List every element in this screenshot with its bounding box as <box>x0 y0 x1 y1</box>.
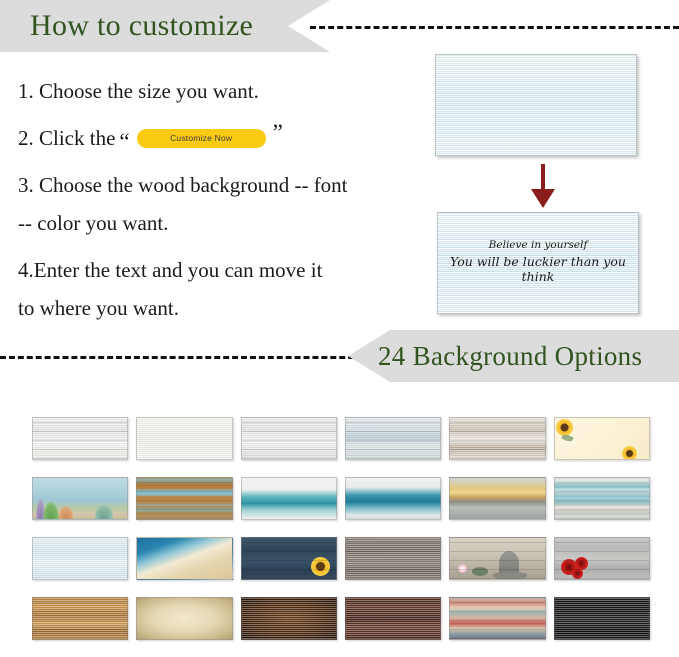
step-3-line-1: 3. Choose the wood background -- font <box>18 166 390 204</box>
step-1-text: 1. Choose the size you want. <box>18 79 259 103</box>
background-option-gray-brown-barnwood[interactable] <box>345 537 441 580</box>
step-4-line-2: to where you want. <box>18 289 390 327</box>
background-options-title: 24 Background Options <box>378 341 642 372</box>
background-options-row <box>32 477 650 520</box>
background-option-black-chalkboard-wood[interactable] <box>554 597 650 640</box>
sunflower-icon <box>311 557 330 576</box>
zen-flower-icon <box>458 564 467 573</box>
background-options-row <box>32 537 650 580</box>
page-title: How to customize <box>30 9 253 43</box>
background-option-zen-buddha-stones[interactable] <box>449 537 545 580</box>
dashed-connector-bottom <box>0 356 372 359</box>
infographic-page: How to customize 1. Choose the size you … <box>0 0 679 642</box>
sign-text-line-1: Believe in yourself <box>438 239 638 251</box>
background-option-navy-planks-sunflower[interactable] <box>241 537 337 580</box>
background-option-beach-shoreline-aerial[interactable] <box>136 537 232 580</box>
background-option-warm-brown-planks[interactable] <box>32 597 128 640</box>
blank-wood-sign-preview <box>435 54 637 156</box>
customized-wood-sign-preview: Believe in yourself You will be luckier … <box>437 212 639 314</box>
step-1: 1. Choose the size you want. <box>18 72 390 110</box>
coral-icon <box>43 502 59 519</box>
background-option-light-cream-wood[interactable] <box>136 417 232 460</box>
step-4: 4.Enter the text and you can move it to … <box>18 251 390 327</box>
background-option-teal-wave-splash[interactable] <box>241 477 337 520</box>
dashed-connector-top <box>310 26 679 29</box>
zen-stone-icon <box>472 567 488 576</box>
coral-icon <box>59 507 73 519</box>
background-option-white-washed-planks[interactable] <box>32 417 128 460</box>
step-4-line-1: 4.Enter the text and you can move it <box>18 251 390 289</box>
background-options-row <box>32 597 650 640</box>
customize-now-button[interactable]: Customize Now <box>137 129 266 148</box>
background-option-cream-sunflower[interactable] <box>554 417 650 460</box>
background-option-pale-blue-wood[interactable] <box>32 537 128 580</box>
instruction-list: 1. Choose the size you want. 2. Click th… <box>18 72 390 336</box>
down-arrow-icon <box>531 164 555 208</box>
how-to-customize-banner: How to customize <box>0 0 330 52</box>
background-option-gray-planks-red-poppies[interactable] <box>554 537 650 580</box>
background-option-pastel-painted-planks[interactable] <box>449 597 545 640</box>
arrow-shaft <box>541 164 545 192</box>
background-option-golden-sunset-seascape[interactable] <box>449 477 545 520</box>
background-option-orange-teal-distressed[interactable] <box>136 477 232 520</box>
background-options-row <box>32 417 650 460</box>
background-option-blue-gray-planks[interactable] <box>345 417 441 460</box>
background-option-aged-parchment[interactable] <box>136 597 232 640</box>
background-options-grid <box>32 417 650 657</box>
background-option-ocean-surf-white[interactable] <box>345 477 441 520</box>
background-option-distressed-white-wood[interactable] <box>241 417 337 460</box>
background-option-dark-red-brown-planks[interactable] <box>345 597 441 640</box>
sign-text-block: Believe in yourself You will be luckier … <box>438 239 638 284</box>
step-2: 2. Click the “ Customize Now ” <box>18 119 390 157</box>
buddha-base <box>493 572 527 579</box>
background-option-dark-brown-grunge-wood[interactable] <box>241 597 337 640</box>
quote-open: “ <box>119 130 129 153</box>
step-3-line-2: -- color you want. <box>18 204 390 242</box>
arrow-head <box>531 189 555 208</box>
coral-icon <box>95 505 113 519</box>
sign-text-line-2: You will be luckier than you think <box>438 254 638 284</box>
leaf-icon <box>561 433 574 443</box>
quote-close: ” <box>273 121 283 144</box>
background-option-teal-white-planks[interactable] <box>554 477 650 520</box>
background-option-weathered-brown-white[interactable] <box>449 417 545 460</box>
poppy-icon <box>572 568 583 579</box>
background-options-banner: 24 Background Options <box>348 330 679 382</box>
step-2-prefix: 2. Click the <box>18 119 115 157</box>
step-3: 3. Choose the wood background -- font --… <box>18 166 390 242</box>
background-option-underwater-coral-reef[interactable] <box>32 477 128 520</box>
sunflower-icon <box>622 446 637 460</box>
